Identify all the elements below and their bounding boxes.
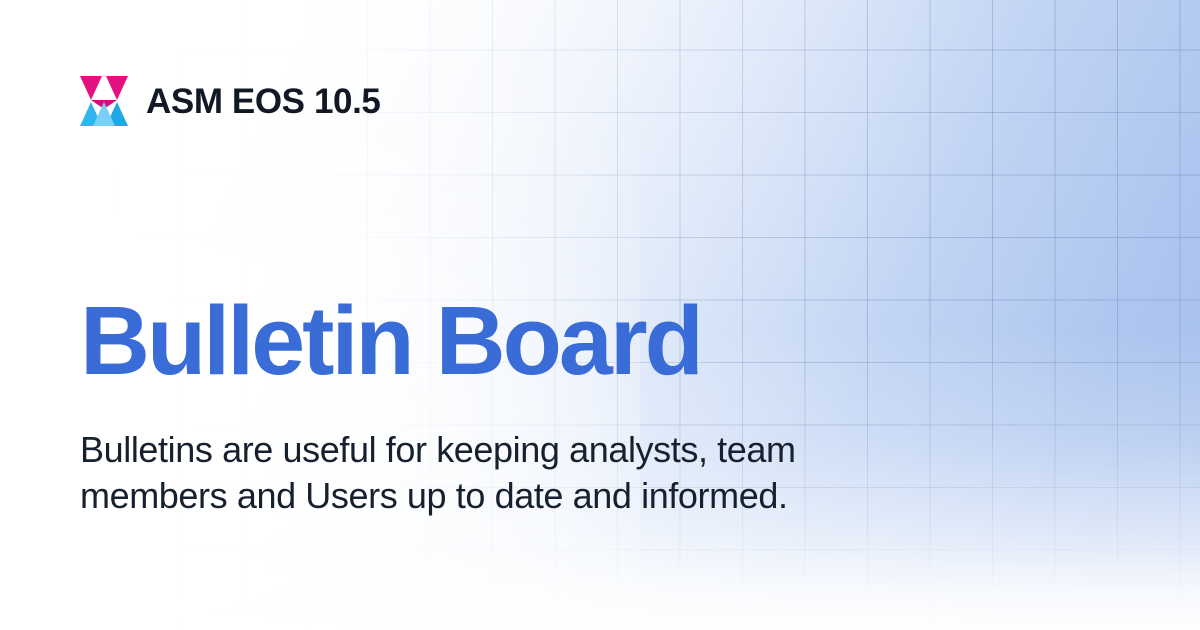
brand-lockup: ASM EOS 10.5 xyxy=(80,74,380,128)
brand-name: ASM EOS 10.5 xyxy=(146,84,380,119)
page-subtitle: Bulletins are useful for keeping analyst… xyxy=(80,427,810,519)
banner-content: ASM EOS 10.5 Bulletin Board Bulletins ar… xyxy=(0,0,1200,630)
page-title: Bulletin Board xyxy=(80,292,701,389)
asm-x-logo-icon xyxy=(80,76,128,126)
bulletin-board-banner: ASM EOS 10.5 Bulletin Board Bulletins ar… xyxy=(0,0,1200,630)
